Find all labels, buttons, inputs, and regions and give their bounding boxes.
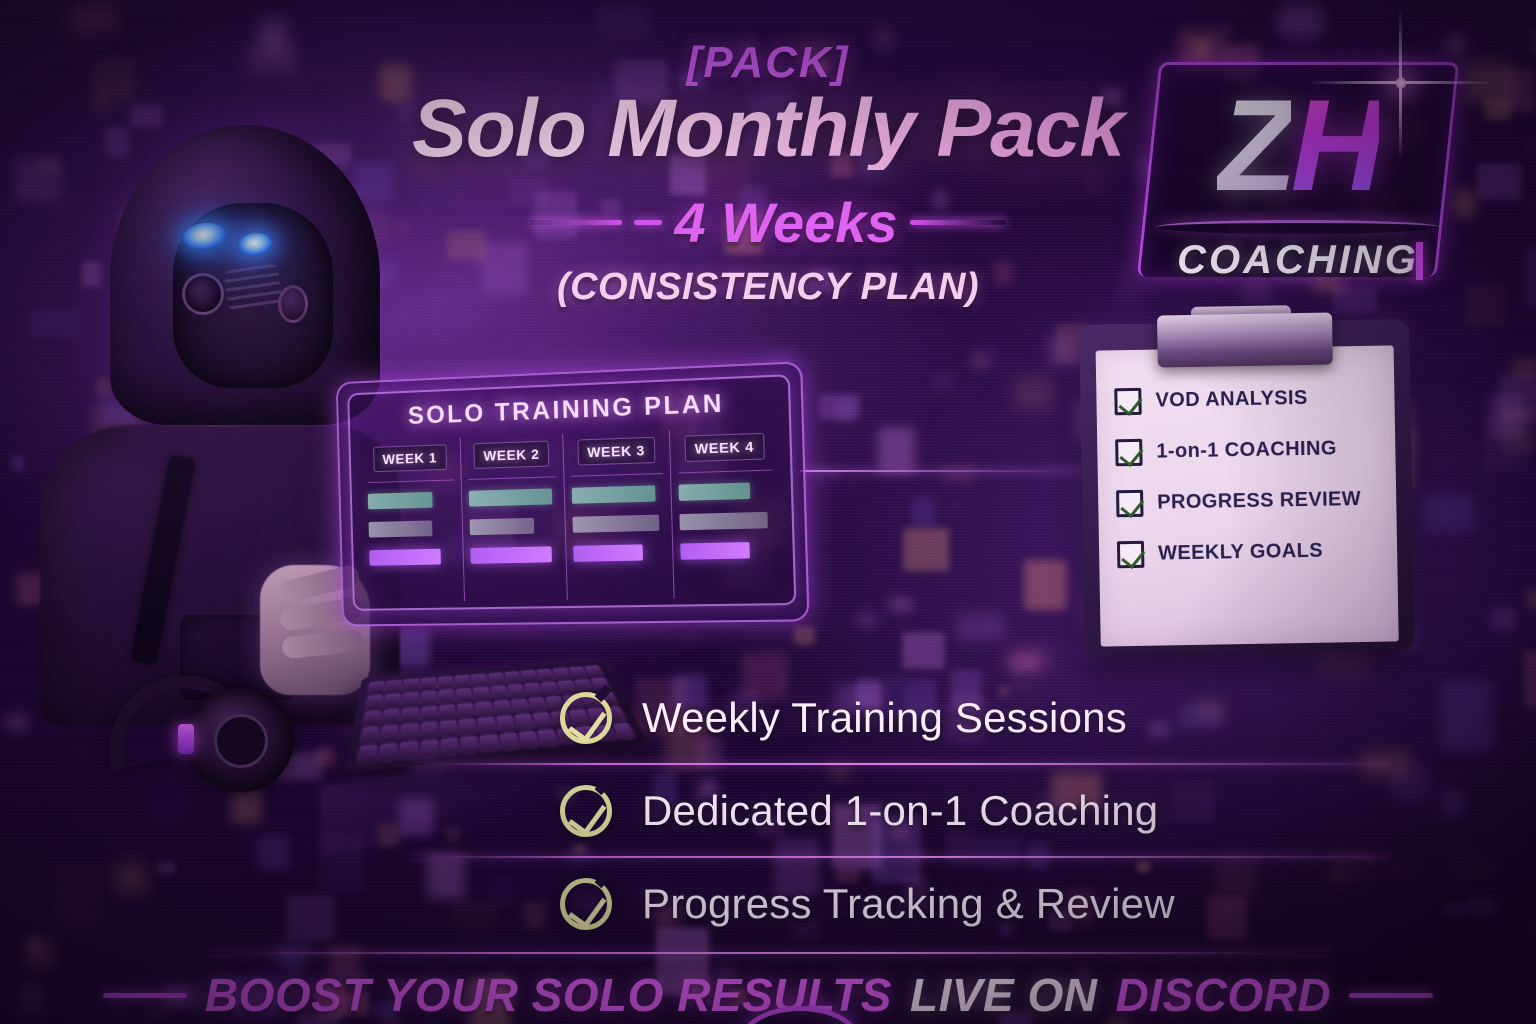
keyboard-key <box>515 714 534 730</box>
week-column: WEEK 4 <box>669 426 783 598</box>
checkbox-checked-icon[interactable] <box>1115 439 1142 466</box>
logo-letter-z: Z <box>1217 72 1290 218</box>
clipboard: VOD ANALYSIS1-on-1 COACHINGPROGRESS REVI… <box>1079 319 1415 655</box>
keyboard-key <box>421 691 436 705</box>
keyboard-key <box>439 704 455 719</box>
week-bars <box>367 479 456 598</box>
keyboard-key <box>473 687 490 701</box>
keyboard-key <box>421 722 437 739</box>
plan-bar <box>680 542 750 560</box>
keyboard-key <box>493 700 511 715</box>
plan-bar <box>572 515 659 533</box>
keyboard-key <box>533 712 553 728</box>
keyboard-key <box>491 686 508 700</box>
circle-check-icon <box>558 783 614 839</box>
training-plan-hologram: SOLO TRAINING PLAN WEEK 1WEEK 2WEEK 3WEE… <box>336 361 810 626</box>
plan-bar <box>573 544 642 562</box>
plan-bar <box>369 520 433 537</box>
checklist-item[interactable]: PROGRESS REVIEW <box>1116 485 1394 517</box>
divider-dash <box>634 220 662 225</box>
logo-accent-bar <box>1416 242 1423 280</box>
keyboard-key <box>475 701 492 716</box>
keyboard-key <box>379 743 398 761</box>
week-label: WEEK 4 <box>684 433 765 462</box>
plan-bar <box>369 549 441 566</box>
keyboard-key <box>524 683 542 696</box>
hologram-beam <box>800 470 1100 472</box>
checkbox-checked-icon[interactable] <box>1116 490 1143 517</box>
keyboard-key <box>439 690 455 704</box>
week-grid: WEEK 1WEEK 2WEEK 3WEEK 4 <box>360 426 784 603</box>
clipboard-clamp <box>1157 312 1333 367</box>
keyboard-key <box>383 709 400 724</box>
week-bars <box>678 470 776 595</box>
keyboard-key <box>358 745 378 764</box>
checkbox-checked-icon[interactable] <box>1114 388 1141 415</box>
keyboard-key <box>480 734 499 752</box>
keyboard-key <box>403 692 418 706</box>
keyboard-key <box>386 680 402 693</box>
sparkle-core <box>1394 76 1408 90</box>
keyboard-key <box>363 710 381 726</box>
checklist-item[interactable]: VOD ANALYSIS <box>1114 383 1392 415</box>
keyboard-key <box>401 723 418 740</box>
keyboard-key <box>472 674 488 687</box>
divider-right <box>910 220 1006 225</box>
week-column: WEEK 3 <box>563 430 674 600</box>
checkbox-checked-icon[interactable] <box>1117 541 1144 568</box>
keyboard-key <box>421 706 437 721</box>
feature-row: Weekly Training Sessions <box>560 672 1320 763</box>
brand-logo: ZH COACHING <box>1148 62 1448 277</box>
feature-label: Weekly Training Sessions <box>642 694 1127 742</box>
banner-top-rule <box>210 952 1330 954</box>
plan-bar <box>469 518 534 535</box>
plan-bar <box>572 485 656 503</box>
feature-row: Progress Tracking & Review <box>560 858 1320 949</box>
keyboard-key <box>537 669 555 681</box>
banner-text-discord: DISCORD <box>1116 968 1332 1022</box>
logo-letter-h: H <box>1291 72 1379 218</box>
banner-dash-left <box>103 993 187 998</box>
keyboard-key <box>478 717 496 733</box>
checklist-label: WEEKLY GOALS <box>1158 540 1323 566</box>
keyboard-key <box>519 731 539 748</box>
keyboard-key <box>421 739 438 757</box>
keyboard-key <box>361 727 380 744</box>
keyboard-key <box>538 729 559 746</box>
keyboard-key <box>459 719 477 735</box>
keyboard-key <box>528 697 547 712</box>
keyboard-key <box>496 716 515 732</box>
checklist-label: 1-on-1 COACHING <box>1156 437 1337 463</box>
promo-poster: [PACK] Solo Monthly Pack 4 Weeks (CONSIS… <box>0 0 1536 1024</box>
keyboard-key <box>384 694 400 708</box>
week-label: WEEK 1 <box>373 444 447 472</box>
keyboard-key <box>521 670 538 682</box>
logo-wordmark: COACHING <box>1148 238 1448 283</box>
keyboard-key <box>499 732 519 749</box>
plan-bar <box>470 546 552 564</box>
week-column: WEEK 2 <box>460 434 568 601</box>
keyboard-key <box>457 703 474 718</box>
plan-bar <box>679 512 768 530</box>
keyboard-key <box>456 688 472 702</box>
keyboard-key <box>441 738 459 756</box>
checklist-item[interactable]: 1-on-1 COACHING <box>1115 434 1393 466</box>
circle-check-icon <box>558 876 614 932</box>
checklist-item[interactable]: WEEKLY GOALS <box>1117 536 1395 568</box>
keyboard-key <box>508 684 526 697</box>
keyboard-key <box>402 707 418 722</box>
keyboard-key <box>460 736 478 754</box>
keyboard-key <box>504 671 521 683</box>
desk-setup <box>90 640 610 890</box>
keyboard-key <box>368 681 384 694</box>
plan-bar <box>468 488 552 506</box>
headphone-rgb-led <box>178 724 194 754</box>
checklist: VOD ANALYSIS1-on-1 COACHINGPROGRESS REVI… <box>1114 383 1395 568</box>
logo-monogram: ZH <box>1148 80 1448 210</box>
checklist-label: VOD ANALYSIS <box>1155 387 1308 413</box>
plan-bar <box>678 483 750 501</box>
keyboard-key <box>438 676 453 689</box>
banner-dash-right <box>1349 993 1433 998</box>
checklist-label: PROGRESS REVIEW <box>1157 488 1361 515</box>
keyboard-key <box>455 675 470 688</box>
keyboard-key <box>381 725 399 742</box>
week-bars <box>571 473 665 596</box>
keyboard-key <box>541 682 559 695</box>
headphone-inner <box>214 714 268 768</box>
feature-list: Weekly Training SessionsDedicated 1-on-1… <box>560 672 1320 949</box>
logo-swoosh <box>1156 220 1440 234</box>
divider-left <box>530 220 622 225</box>
plan-bar <box>368 492 433 509</box>
week-column: WEEK 1 <box>360 438 465 603</box>
keyboard-key <box>488 672 504 685</box>
keyboard-key <box>400 741 418 759</box>
feature-label: Progress Tracking & Review <box>642 880 1175 928</box>
feature-label: Dedicated 1-on-1 Coaching <box>642 787 1158 835</box>
keyboard-key <box>421 677 436 690</box>
feature-row: Dedicated 1-on-1 Coaching <box>560 765 1320 856</box>
keyboard-key <box>404 679 419 692</box>
banner-text-secondary: LIVE ON <box>910 968 1098 1022</box>
week-label: WEEK 2 <box>473 441 549 469</box>
week-label: WEEK 3 <box>577 437 655 466</box>
circle-check-icon <box>558 690 614 746</box>
keyboard-key <box>440 720 457 736</box>
keyboard-key <box>511 699 529 714</box>
duration-label: 4 Weeks <box>674 190 897 255</box>
keyboard-key <box>366 695 383 709</box>
week-bars <box>468 476 560 597</box>
